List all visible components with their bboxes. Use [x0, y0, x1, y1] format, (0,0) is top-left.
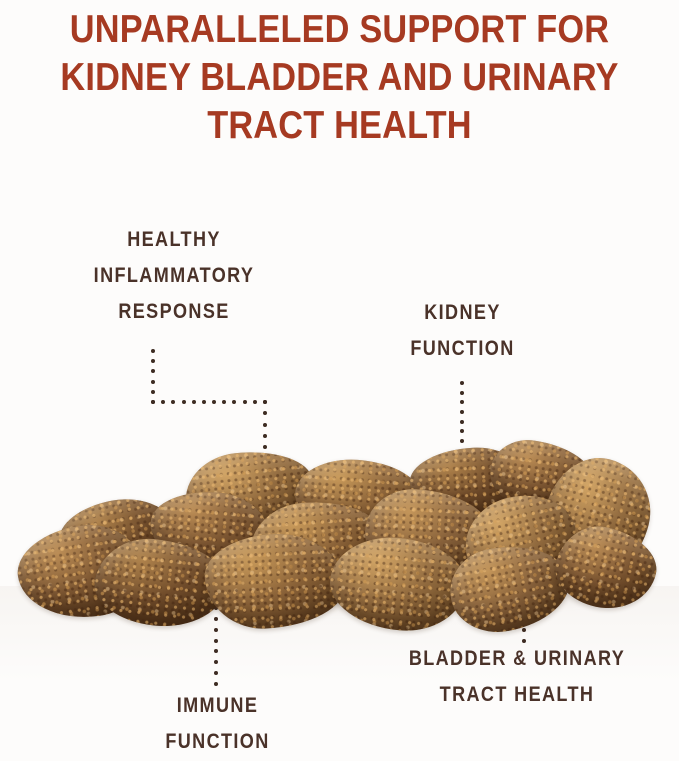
leader-dot [151, 359, 155, 363]
leader-dot [460, 381, 464, 385]
leader-dot [243, 400, 247, 404]
leader-dot [212, 400, 216, 404]
leader-dot [171, 400, 175, 404]
callout-healthy-inflammatory-response: HEALTHY INFLAMMATORY RESPONSE [28, 222, 320, 330]
leader-dot [263, 411, 267, 415]
infographic-canvas: UNPARALLELED SUPPORT FOR KIDNEY BLADDER … [0, 0, 679, 761]
leader-dot [214, 682, 218, 686]
callout-line: FUNCTION [99, 724, 336, 760]
leader-dot [151, 349, 155, 353]
leader-dot [460, 410, 464, 414]
leader-dot [460, 400, 464, 404]
leader-dot [222, 400, 226, 404]
callout-kidney-function: KIDNEY FUNCTION [349, 295, 577, 367]
leader-dot [263, 434, 267, 438]
leader-dot [460, 391, 464, 395]
page-title: UNPARALLELED SUPPORT FOR KIDNEY BLADDER … [41, 6, 639, 150]
callout-line: HEALTHY [28, 222, 320, 258]
leader-dot [214, 617, 218, 621]
leader-dot [151, 380, 155, 384]
leader-dot [182, 400, 186, 404]
leader-dot [202, 400, 206, 404]
leader-dot [263, 445, 267, 449]
kibble-pile-image [0, 430, 679, 620]
leader-dot [151, 400, 155, 404]
leader-dot [232, 400, 236, 404]
callout-line: TRACT HEALTH [379, 677, 656, 713]
leader-dot [151, 390, 155, 394]
callout-line: IMMUNE [99, 688, 336, 724]
leader-dot [192, 400, 196, 404]
leader-dot [263, 400, 267, 404]
callout-bladder-urinary-tract-health: BLADDER & URINARY TRACT HEALTH [379, 641, 656, 713]
leader-dot [263, 423, 267, 427]
callout-line: FUNCTION [349, 331, 577, 367]
callout-immune-function: IMMUNE FUNCTION [99, 688, 336, 760]
leader-dot [161, 400, 165, 404]
leader-dot [460, 420, 464, 424]
leader-dot [214, 628, 218, 632]
callout-line: BLADDER & URINARY [379, 641, 656, 677]
callout-line: INFLAMMATORY [28, 258, 320, 294]
headline-line-3: TRACT HEALTH [41, 102, 639, 150]
callout-line: RESPONSE [28, 294, 320, 330]
leader-dot [214, 639, 218, 643]
leader-dot [253, 400, 257, 404]
callout-line: KIDNEY [349, 295, 577, 331]
leader-dot [460, 439, 464, 443]
headline-line-1: UNPARALLELED SUPPORT FOR [41, 6, 639, 54]
headline-line-2: KIDNEY BLADDER AND URINARY [41, 54, 639, 102]
leader-dot [151, 369, 155, 373]
